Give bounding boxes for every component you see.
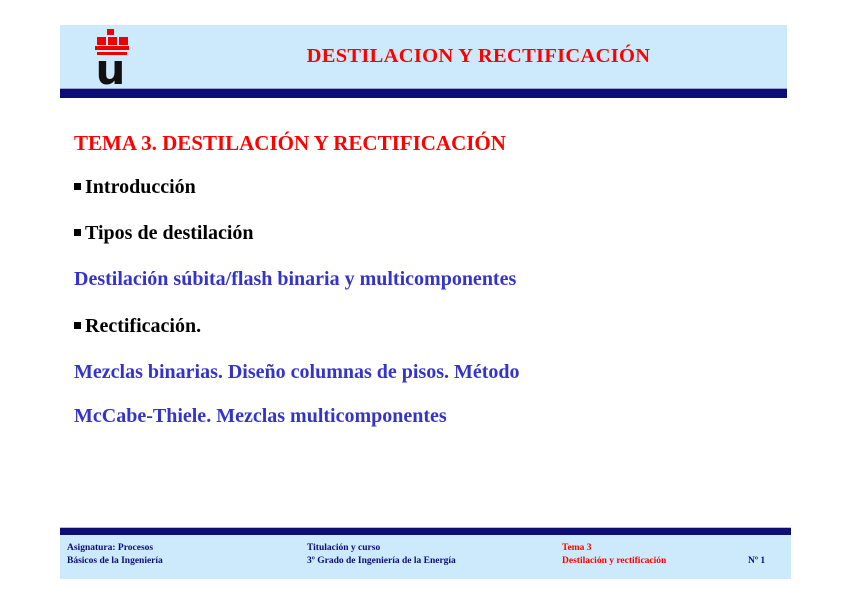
university-logo: u [78,25,142,88]
sub-item-label: Mezclas binarias. Diseño columnas de pis… [74,359,774,385]
footer-page-number: Nº 1 [748,555,765,568]
square-bullet-icon [74,183,81,190]
list-item-label: Rectificación. [85,313,201,339]
crown-icon-top-jewel [107,29,114,35]
slide-content: TEMA 3. DESTILACIÓN Y RECTIFICACIÓN Intr… [74,130,774,450]
page-title: TEMA 3. DESTILACIÓN Y RECTIFICACIÓN [74,130,774,156]
footer-subject-line2: Básicos de la Ingeniería [67,555,163,568]
slide-footer-band: Asignatura: Procesos Básicos de la Ingen… [60,535,791,579]
list-item: Introducción [74,174,774,200]
crown-icon-jewel-right [119,37,128,45]
footer-degree: Titulación y curso 3º Grado de Ingenierí… [307,542,456,568]
footer-degree-line1: Titulación y curso [307,542,456,555]
square-bullet-icon [74,322,81,329]
footer-topic-line1: Tema 3 [562,542,666,555]
sub-item-label: Destilación súbita/flash binaria y multi… [74,266,774,292]
header-title: DESTILACION Y RECTIFICACIÓN [170,25,787,88]
slide-header-band: u DESTILACION Y RECTIFICACIÓN [60,25,787,88]
square-bullet-icon [74,229,81,236]
crown-icon-jewel-left [97,37,106,45]
list-item: Rectificación. [74,313,774,339]
footer-topic: Tema 3 Destilación y rectificación [562,542,666,568]
footer-subject: Asignatura: Procesos Básicos de la Ingen… [67,542,163,568]
logo-letter-u: u [78,51,142,89]
footer-subject-line1: Asignatura: Procesos [67,542,163,555]
sub-item-label: McCabe-Thiele. Mezclas multicomponentes [74,403,774,429]
list-item: Tipos de destilación [74,220,774,246]
footer-degree-line2: 3º Grado de Ingeniería de la Energía [307,555,456,568]
list-item-label: Introducción [85,174,196,200]
header-divider-rule [60,88,787,98]
footer-topic-line2: Destilación y rectificación [562,555,666,568]
crown-icon-jewel-center [108,37,117,45]
list-item-label: Tipos de destilación [85,220,254,246]
